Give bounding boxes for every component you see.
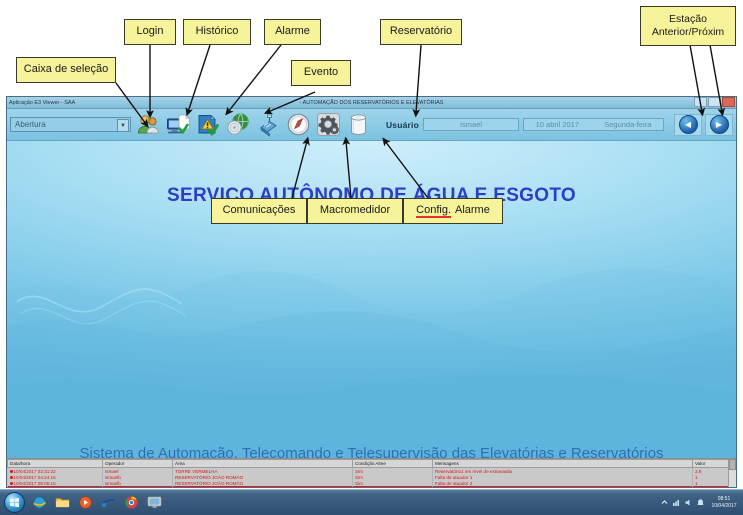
cell-condicao: Sim [353, 486, 433, 488]
alarm-table: Data/hora Operador Área Condição Alme Me… [7, 459, 736, 488]
callout-label: Comunicações [223, 204, 296, 218]
cell-area: RESERVATÓRIO [173, 486, 353, 488]
show-hidden-icons-icon [660, 498, 669, 507]
application-window: Aplicação E3 Viewer - SAA - AUTOMAÇÃO DO… [6, 96, 737, 488]
column-header-datahora[interactable]: Data/hora [8, 460, 103, 468]
station-next-button[interactable]: ▶ [705, 114, 733, 136]
login-icon[interactable] [136, 112, 161, 137]
date-value: 10 abril 2017 [536, 120, 579, 129]
callout-reservatorio[interactable]: Reservatório [380, 19, 462, 45]
evento-icon[interactable] [226, 112, 251, 137]
user-info-area: Usuário Ismael 10 abril 2017 Segunda-fei… [386, 114, 733, 136]
callout-label: Reservatório [390, 25, 452, 39]
callout-caixa-selecao[interactable]: Caixa de seleção [16, 57, 116, 83]
maximize-button[interactable] [708, 97, 721, 107]
window-controls [694, 97, 735, 106]
system-tray: 08:51 10/04/2017 [660, 496, 743, 510]
station-previous-button[interactable]: ◀ [674, 114, 702, 136]
selection-combobox-value: Abertura [15, 120, 46, 129]
volume-icon [684, 498, 693, 507]
callout-label-line1: Config. [416, 204, 451, 218]
taskbar-app-list [30, 493, 164, 512]
callout-login[interactable]: Login [124, 19, 176, 45]
alarm-bullet-icon [10, 470, 13, 473]
callout-label: Login [137, 25, 164, 39]
alarm-grid-scrollbar[interactable] [728, 459, 736, 488]
callout-config-alarme[interactable]: Config. Alarme [403, 198, 503, 224]
network-icon [672, 498, 681, 507]
screen-root: Aplicação E3 Viewer - SAA - AUTOMAÇÃO DO… [0, 0, 743, 515]
arrow-right-icon: ▶ [710, 115, 729, 134]
callout-evento[interactable]: Evento [291, 60, 351, 86]
station-nav-buttons: ◀ ▶ [674, 114, 733, 136]
main-toolbar: Abertura ▼ [7, 109, 736, 141]
clock-time: 08:51 [709, 496, 739, 503]
cell-operador: Ismael [103, 486, 173, 488]
taskbar-clock[interactable]: 08:51 10/04/2017 [709, 496, 739, 510]
alarm-table-header-row: Data/hora Operador Área Condição Alme Me… [8, 460, 737, 468]
macromedidor-icon[interactable] [286, 112, 311, 137]
minimize-button[interactable] [694, 97, 707, 107]
start-button[interactable] [2, 492, 26, 514]
chevron-down-icon[interactable]: ▼ [117, 119, 129, 132]
folder-explorer-icon[interactable] [53, 493, 72, 512]
historico-icon[interactable] [166, 112, 191, 137]
close-button[interactable] [722, 97, 735, 107]
user-value-field: Ismael [423, 118, 519, 131]
teamviewer-icon[interactable] [99, 493, 118, 512]
alarm-grid[interactable]: Data/hora Operador Área Condição Alme Me… [7, 458, 736, 488]
callout-estacao[interactable]: Estação Anterior/Próxim [640, 6, 736, 46]
media-player-icon[interactable] [76, 493, 95, 512]
main-canvas: SERVIÇO AUTÔNOMO DE ÁGUA E ESGOTO Sistem… [7, 141, 736, 488]
cell-mensagem: Reservatório1 em nível de extravasão [433, 486, 693, 488]
comunicacoes-icon[interactable] [256, 112, 281, 137]
e3-viewer-icon[interactable] [145, 493, 164, 512]
callout-label-line2: Alarme [455, 204, 490, 218]
action-center-icon [696, 498, 705, 507]
reservatorio-icon[interactable] [346, 112, 371, 137]
config-alarme-icon[interactable] [316, 112, 341, 137]
selection-combobox[interactable]: Abertura ▼ [10, 117, 131, 132]
internet-explorer-icon[interactable] [30, 493, 49, 512]
user-label: Usuário [386, 120, 419, 130]
scrollbar-thumb[interactable] [729, 459, 736, 470]
callout-macromedidor[interactable]: Macromedidor [307, 198, 403, 224]
alarme-icon[interactable] [196, 112, 221, 137]
chrome-icon[interactable] [122, 493, 141, 512]
weekday-value: Segunda-feira [604, 120, 651, 129]
alarm-bullet-icon [10, 476, 13, 479]
callout-label: Alarme [275, 25, 310, 39]
callout-label: Caixa de seleção [24, 63, 108, 77]
callout-label: Evento [304, 66, 338, 80]
callout-label: Macromedidor [320, 204, 390, 218]
callout-label-line2: Anterior/Próxim [652, 26, 724, 39]
callout-label-line1: Estação [669, 13, 707, 26]
clock-date: 10/04/2017 [709, 503, 739, 510]
column-header-operador[interactable]: Operador [103, 460, 173, 468]
table-row[interactable]: 10/04/2017 08:10:19 Ismael RESERVATÓRIO … [8, 486, 737, 488]
windows-taskbar: 08:51 10/04/2017 [0, 489, 743, 515]
callout-alarme[interactable]: Alarme [264, 19, 321, 45]
window-title-center: - AUTOMAÇÃO DOS RESERVATÓRIOS E ELEVATÓR… [7, 100, 736, 106]
alarm-bullet-icon [10, 482, 13, 485]
tray-icon-group[interactable] [660, 498, 705, 507]
callout-historico[interactable]: Histórico [183, 19, 251, 45]
cell-datahora: 10/04/2017 08:10:19 [8, 486, 103, 488]
arrow-left-icon: ◀ [679, 115, 698, 134]
windows-orb-icon [4, 492, 25, 513]
callout-comunicacoes[interactable]: Comunicações [211, 198, 307, 224]
column-header-mensagens[interactable]: Mensagens [433, 460, 693, 468]
callout-label: Histórico [196, 25, 239, 39]
date-field: 10 abril 2017 Segunda-feira [523, 118, 664, 131]
column-header-condicao[interactable]: Condição Alme [353, 460, 433, 468]
column-header-area[interactable]: Área [173, 460, 353, 468]
window-titlebar[interactable]: Aplicação E3 Viewer - SAA - AUTOMAÇÃO DO… [7, 97, 736, 109]
